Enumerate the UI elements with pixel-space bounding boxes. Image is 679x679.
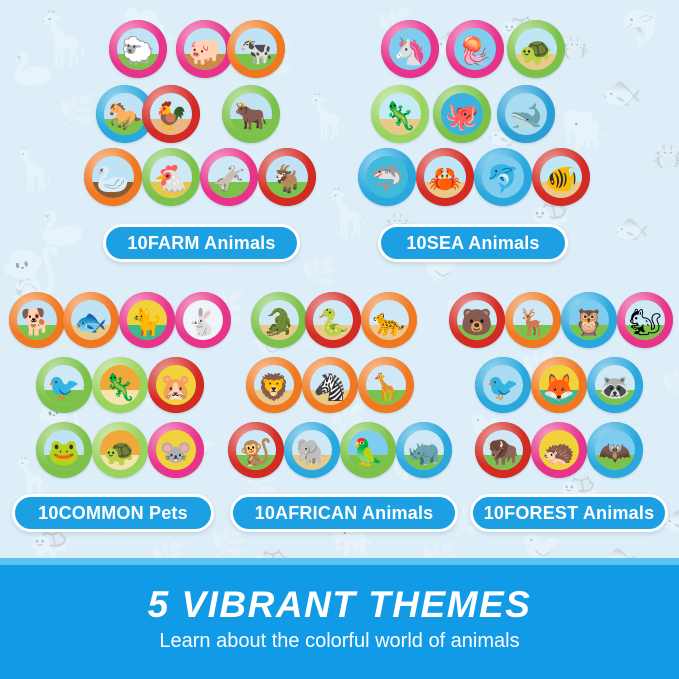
animal-token-crab[interactable]: 🦀 — [416, 148, 474, 206]
giraffe-silhouette: 🦒 — [30, 14, 95, 66]
animal-token-chameleon[interactable]: 🦎 — [92, 357, 148, 413]
giraffe-silhouette: 🦒 — [8, 150, 58, 190]
animal-glyph-donkey: 🫏 — [208, 166, 250, 198]
token-scene: 🦎 — [379, 93, 421, 135]
animal-token-goose[interactable]: 🦢 — [84, 148, 142, 206]
animal-glyph-deer: 🦌 — [513, 309, 553, 340]
animal-token-giraffe[interactable]: 🦒 — [358, 357, 414, 413]
animal-token-rhino[interactable]: 🦏 — [396, 422, 452, 478]
dolphin-silhouette: 🐬 — [618, 12, 663, 48]
token-scene: 🦓 — [310, 365, 350, 405]
token-scene: 🐘 — [292, 430, 332, 470]
animal-glyph-whale: 🐋 — [505, 103, 547, 135]
theme-count-sea: 10 — [406, 233, 426, 254]
theme-label-sea[interactable]: 10 SEA Animals — [378, 224, 568, 262]
theme-label-african[interactable]: 10 AFRICAN Animals — [230, 494, 458, 532]
animal-token-owl[interactable]: 🦉 — [561, 292, 617, 348]
token-scene: 🐸 — [44, 430, 84, 470]
animal-token-bluebird[interactable]: 🐦 — [475, 357, 531, 413]
animal-token-mouse[interactable]: 🐭 — [148, 422, 204, 478]
animal-glyph-hamster: 🐹 — [156, 374, 196, 405]
animal-token-whale[interactable]: 🐋 — [497, 85, 555, 143]
animal-glyph-clownfish: 🐠 — [540, 166, 582, 198]
leaf-silhouette: 🌿 — [660, 370, 679, 400]
giraffe-silhouette: 🦒 — [300, 96, 352, 138]
animal-glyph-chameleon: 🦎 — [100, 374, 140, 405]
animal-token-rooster[interactable]: 🐓 — [142, 85, 200, 143]
fish-silhouette: 🐟 — [612, 214, 649, 244]
fish-silhouette: 🐟 — [600, 76, 642, 110]
token-scene: 🐔 — [150, 156, 192, 198]
animal-token-seaweed-fish[interactable]: 🦎 — [371, 85, 429, 143]
animal-token-hamster[interactable]: 🐹 — [148, 357, 204, 413]
animal-token-elephant[interactable]: 🐘 — [284, 422, 340, 478]
animal-glyph-seahorse: 🦄 — [389, 38, 431, 70]
animal-token-seahorse[interactable]: 🦄 — [381, 20, 439, 78]
theme-label-pets[interactable]: 10 COMMON Pets — [12, 494, 214, 532]
animal-glyph-rooster: 🐓 — [150, 103, 192, 135]
token-scene: 🐄 — [235, 28, 277, 70]
animal-token-tortoise[interactable]: 🐢 — [92, 422, 148, 478]
animal-glyph-tortoise: 🐢 — [100, 439, 140, 470]
token-scene: 🦊 — [539, 365, 579, 405]
token-scene: 🪼 — [454, 28, 496, 70]
token-scene: 🦜 — [348, 430, 388, 470]
animal-glyph-jellyfish: 🪼 — [454, 38, 496, 70]
banner-title: 5 VIBRANT THEMES — [0, 584, 679, 626]
animal-glyph-fox: 🦊 — [539, 374, 579, 405]
animal-glyph-dog: 🐕 — [17, 309, 57, 340]
banner-subtitle: Learn about the colorful world of animal… — [0, 630, 679, 653]
animal-glyph-rhino: 🦏 — [404, 439, 444, 470]
animal-glyph-dolphin: 🐬 — [482, 166, 524, 198]
animal-glyph-bull: 🐂 — [230, 103, 272, 135]
animal-token-bull[interactable]: 🐂 — [222, 85, 280, 143]
animal-token-bat[interactable]: 🦇 — [587, 422, 643, 478]
animal-glyph-seaweed-fish: 🦎 — [379, 103, 421, 135]
animal-token-snake[interactable]: 🐍 — [305, 292, 361, 348]
animal-token-dolphin[interactable]: 🐬 — [474, 148, 532, 206]
animal-token-lion[interactable]: 🦁 — [246, 357, 302, 413]
animal-token-octopus[interactable]: 🐙 — [433, 85, 491, 143]
animal-token-rabbit[interactable]: 🐇 — [175, 292, 231, 348]
token-scene: 🐐 — [266, 156, 308, 198]
animal-glyph-mouse: 🐭 — [156, 439, 196, 470]
animal-token-fox[interactable]: 🦊 — [531, 357, 587, 413]
animal-glyph-parakeet: 🐦 — [44, 374, 84, 405]
token-scene: 🐟 — [71, 300, 111, 340]
token-scene: 🐻 — [457, 300, 497, 340]
token-scene: 🐦 — [483, 365, 523, 405]
animal-glyph-bluebird: 🐦 — [483, 374, 523, 405]
animal-glyph-bat: 🦇 — [595, 439, 635, 470]
animal-token-pig[interactable]: 🐖 — [176, 20, 234, 78]
animal-token-frog[interactable]: 🐸 — [36, 422, 92, 478]
animal-glyph-sheep: 🐑 — [117, 38, 159, 70]
token-scene: 🦄 — [389, 28, 431, 70]
token-scene: 🦉 — [569, 300, 609, 340]
token-scene: 🐆 — [369, 300, 409, 340]
animal-token-bear[interactable]: 🐻 — [449, 292, 505, 348]
animal-glyph-pig: 🐖 — [184, 38, 226, 70]
animal-token-dog[interactable]: 🐕 — [9, 292, 65, 348]
theme-name-african: AFRICAN Animals — [275, 503, 433, 524]
animal-glyph-raccoon: 🦝 — [595, 374, 635, 405]
swan-silhouette: 🦢 — [12, 52, 54, 86]
animal-token-cow[interactable]: 🐄 — [227, 20, 285, 78]
animal-token-donkey[interactable]: 🫏 — [200, 148, 258, 206]
animal-glyph-octopus: 🐙 — [441, 103, 483, 135]
token-scene: 🐂 — [230, 93, 272, 135]
animal-token-hen[interactable]: 🐔 — [142, 148, 200, 206]
leaf-silhouette: 🌿 — [210, 528, 247, 558]
animal-glyph-giraffe: 🦒 — [366, 374, 406, 405]
token-scene: 🐖 — [184, 28, 226, 70]
leaf-silhouette: 🌿 — [300, 258, 337, 288]
animal-glyph-shark: 🦈 — [366, 166, 408, 198]
animal-glyph-rabbit: 🐇 — [183, 309, 223, 340]
token-scene: 🐢 — [515, 28, 557, 70]
animal-token-goat[interactable]: 🐐 — [258, 148, 316, 206]
token-scene: 🐑 — [117, 28, 159, 70]
animal-token-parakeet[interactable]: 🐦 — [36, 357, 92, 413]
animal-token-sheep[interactable]: 🐑 — [109, 20, 167, 78]
animal-token-turtle[interactable]: 🐢 — [507, 20, 565, 78]
token-scene: 🐭 — [156, 430, 196, 470]
banner-top-strip — [0, 558, 679, 565]
token-scene: 🐎 — [104, 93, 146, 135]
token-scene: 🐹 — [156, 365, 196, 405]
animal-glyph-elephant: 🐘 — [292, 439, 332, 470]
animal-token-moose[interactable]: 🦬 — [475, 422, 531, 478]
animal-glyph-owl: 🦉 — [569, 309, 609, 340]
animal-token-jellyfish[interactable]: 🪼 — [446, 20, 504, 78]
animal-token-zebra[interactable]: 🦓 — [302, 357, 358, 413]
token-scene: 🐬 — [482, 156, 524, 198]
theme-count-forest: 10 — [484, 503, 504, 524]
token-scene: 🦇 — [595, 430, 635, 470]
animal-token-clownfish[interactable]: 🐠 — [532, 148, 590, 206]
token-scene: 🦌 — [513, 300, 553, 340]
animal-token-shark[interactable]: 🦈 — [358, 148, 416, 206]
token-scene: 🐢 — [100, 430, 140, 470]
leaf-silhouette: 🌿 — [58, 96, 95, 126]
token-scene: 🫏 — [208, 156, 250, 198]
animal-glyph-bear: 🐻 — [457, 309, 497, 340]
token-scene: 🐍 — [313, 300, 353, 340]
animal-glyph-squirrel: 🐿 — [625, 309, 665, 340]
theme-label-farm[interactable]: 10 FARM Animals — [103, 224, 300, 262]
theme-label-forest[interactable]: 10 FOREST Animals — [470, 494, 668, 532]
token-scene: 🦎 — [100, 365, 140, 405]
token-scene: 🦬 — [483, 430, 523, 470]
animal-glyph-horse: 🐎 — [104, 103, 146, 135]
crab-silhouette: 🦀 — [648, 140, 679, 172]
animal-token-squirrel[interactable]: 🐿 — [617, 292, 673, 348]
product-feature-image: 🦒🐘🌿🦢🌿🦒🌿🌿🦒🦒🌿🦢🐒🐦🌿🌿🐟🐢🦀🐬🐟🦀🐘🐟🌿🐢🐟🦀🐦🌿🐒🌿🐦🌿🐘🌿🐦🌿🌿🐒… — [0, 0, 679, 679]
animal-token-deer[interactable]: 🦌 — [505, 292, 561, 348]
theme-name-farm: FARM Animals — [148, 233, 276, 254]
animal-token-crocodile[interactable]: 🐊 — [251, 292, 307, 348]
animal-token-cat[interactable]: 🐈 — [119, 292, 175, 348]
theme-name-forest: FOREST Animals — [504, 503, 654, 524]
animal-glyph-zebra: 🦓 — [310, 374, 350, 405]
animal-glyph-snake: 🐍 — [313, 309, 353, 340]
theme-count-farm: 10 — [127, 233, 147, 254]
theme-count-african: 10 — [255, 503, 275, 524]
animal-glyph-hedgehog: 🦔 — [539, 439, 579, 470]
token-scene: 🐠 — [540, 156, 582, 198]
animal-token-raccoon[interactable]: 🦝 — [587, 357, 643, 413]
animal-glyph-frog: 🐸 — [44, 439, 84, 470]
animal-glyph-cheetah: 🐆 — [369, 309, 409, 340]
animal-glyph-goldfish: 🐟 — [71, 309, 111, 340]
animal-glyph-goat: 🐐 — [266, 166, 308, 198]
animal-token-goldfish[interactable]: 🐟 — [63, 292, 119, 348]
token-scene: 🦈 — [366, 156, 408, 198]
token-scene: 🦒 — [366, 365, 406, 405]
token-scene: 🦝 — [595, 365, 635, 405]
animal-token-hedgehog[interactable]: 🦔 — [531, 422, 587, 478]
token-scene: 🐦 — [44, 365, 84, 405]
animal-glyph-hen: 🐔 — [150, 166, 192, 198]
token-scene: 🐒 — [236, 430, 276, 470]
token-scene: 🐊 — [259, 300, 299, 340]
swan-silhouette: 🦢 — [40, 210, 85, 246]
animal-glyph-monkey: 🐒 — [236, 439, 276, 470]
token-scene: 🐇 — [183, 300, 223, 340]
theme-count-pets: 10 — [38, 503, 58, 524]
animal-token-cheetah[interactable]: 🐆 — [361, 292, 417, 348]
token-scene: 🐙 — [441, 93, 483, 135]
token-scene: 🐿 — [625, 300, 665, 340]
bottom-banner: 5 VIBRANT THEMES Learn about the colorfu… — [0, 558, 679, 679]
elephant-silhouette: 🐘 — [560, 110, 610, 150]
token-scene: 🐓 — [150, 93, 192, 135]
animal-glyph-crocodile: 🐊 — [259, 309, 299, 340]
token-scene: 🦁 — [254, 365, 294, 405]
animal-token-monkey[interactable]: 🐒 — [228, 422, 284, 478]
theme-name-pets: COMMON Pets — [59, 503, 188, 524]
token-scene: 🐕 — [17, 300, 57, 340]
token-scene: 🦏 — [404, 430, 444, 470]
token-scene: 🦢 — [92, 156, 134, 198]
animal-glyph-cat: 🐈 — [127, 309, 167, 340]
animal-glyph-crab: 🦀 — [424, 166, 466, 198]
animal-glyph-cow: 🐄 — [235, 38, 277, 70]
animal-glyph-toucan: 🦜 — [348, 439, 388, 470]
theme-name-sea: SEA Animals — [427, 233, 540, 254]
token-scene: 🦀 — [424, 156, 466, 198]
animal-glyph-moose: 🦬 — [483, 439, 523, 470]
animal-glyph-lion: 🦁 — [254, 374, 294, 405]
animal-glyph-turtle: 🐢 — [515, 38, 557, 70]
token-scene: 🐋 — [505, 93, 547, 135]
token-scene: 🦔 — [539, 430, 579, 470]
animal-glyph-goose: 🦢 — [92, 166, 134, 198]
animal-token-toucan[interactable]: 🦜 — [340, 422, 396, 478]
token-scene: 🐈 — [127, 300, 167, 340]
monkey-silhouette: 🐒 — [0, 248, 62, 298]
